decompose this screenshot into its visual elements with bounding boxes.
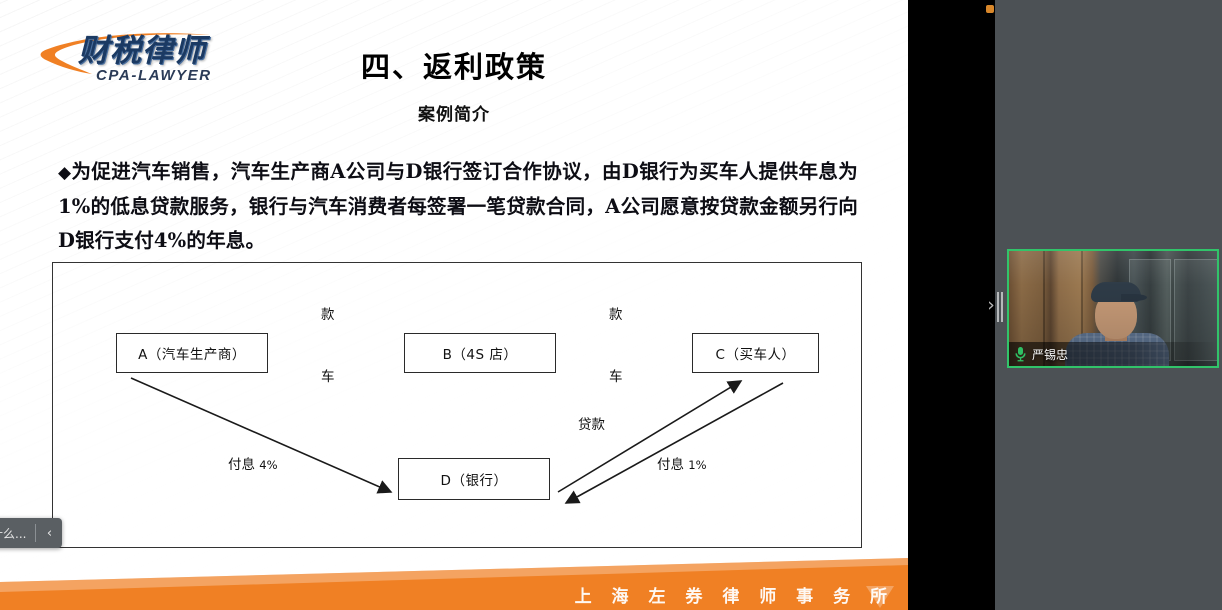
diagram-node-b-label: B（4S 店） [443,343,518,363]
edge-label-bc-bottom: 车 [609,365,623,385]
edge-label-c-to-d-pct: 1% [688,458,706,472]
diagram-node-a: A（汽车生产商） [116,333,268,373]
edge-label-c-to-d-word: 付息 [657,457,684,473]
panel-resize-grip-icon[interactable] [997,292,1004,322]
edge-label-a-to-d-word: 付息 [228,457,255,473]
participant-video-tile[interactable]: 严锡忠 [1007,249,1219,368]
edge-label-ab-top: 款 [321,303,335,323]
microphone-icon [1014,346,1027,362]
diagram-node-b: B（4S 店） [404,333,556,373]
diagram-node-a-label: A（汽车生产商） [138,343,246,363]
slide-subtitle: 案例简介 [0,100,908,125]
screen-share-mini-toolbar[interactable]: 什么... ‹ [0,518,62,548]
edge-label-a-to-d: 付息 4% [228,453,278,473]
flow-diagram-arrows [53,263,858,544]
slide-footer-band: 上 海 左 券 律 师 事 务 所 [0,558,908,610]
mini-toolbar-label[interactable]: 什么... [0,525,35,542]
diagram-node-d-label: D（银行） [441,469,508,489]
bullet-marker: ◆ [58,163,71,183]
edge-label-c-to-d: 付息 1% [657,453,707,473]
meeting-screen-share-window: 财税律师 CPA-LAWYER 四、返利政策 案例简介 ◆为促进汽车销售，汽车生… [0,0,1222,610]
flow-diagram: A（汽车生产商） B（4S 店） C（买车人） D（银行） 款 车 款 车 付息… [52,262,862,548]
shared-slide: 财税律师 CPA-LAWYER 四、返利政策 案例简介 ◆为促进汽车销售，汽车生… [0,0,908,610]
participant-name-strip: 严锡忠 [1009,342,1217,366]
edge-label-ab-bottom: 车 [321,365,335,385]
diagram-node-c-label: C（买车人） [716,343,796,363]
edge-label-a-to-d-pct: 4% [259,458,277,472]
edge-label-bc-top: 款 [609,303,623,323]
edge-label-loan: 贷款 [578,413,605,433]
diagram-node-d: D（银行） [398,458,550,500]
diagram-node-c: C（买车人） [692,333,819,373]
slide-title: 四、返利政策 [0,44,908,86]
screen-share-letterbox: › [908,0,995,610]
recording-indicator-dot [986,5,994,13]
slide-body-paragraph: ◆为促进汽车销售，汽车生产商A公司与D银行签订合作协议，由D银行为买车人提供年息… [58,155,858,258]
mini-toolbar-collapse-button[interactable]: ‹ [36,518,62,548]
participant-name-label: 严锡忠 [1032,346,1068,363]
slide-body-text: 为促进汽车销售，汽车生产商A公司与D银行签订合作协议，由D银行为买车人提供年息为… [58,160,858,252]
slide-footer-text: 上 海 左 券 律 师 事 务 所 [575,582,894,607]
